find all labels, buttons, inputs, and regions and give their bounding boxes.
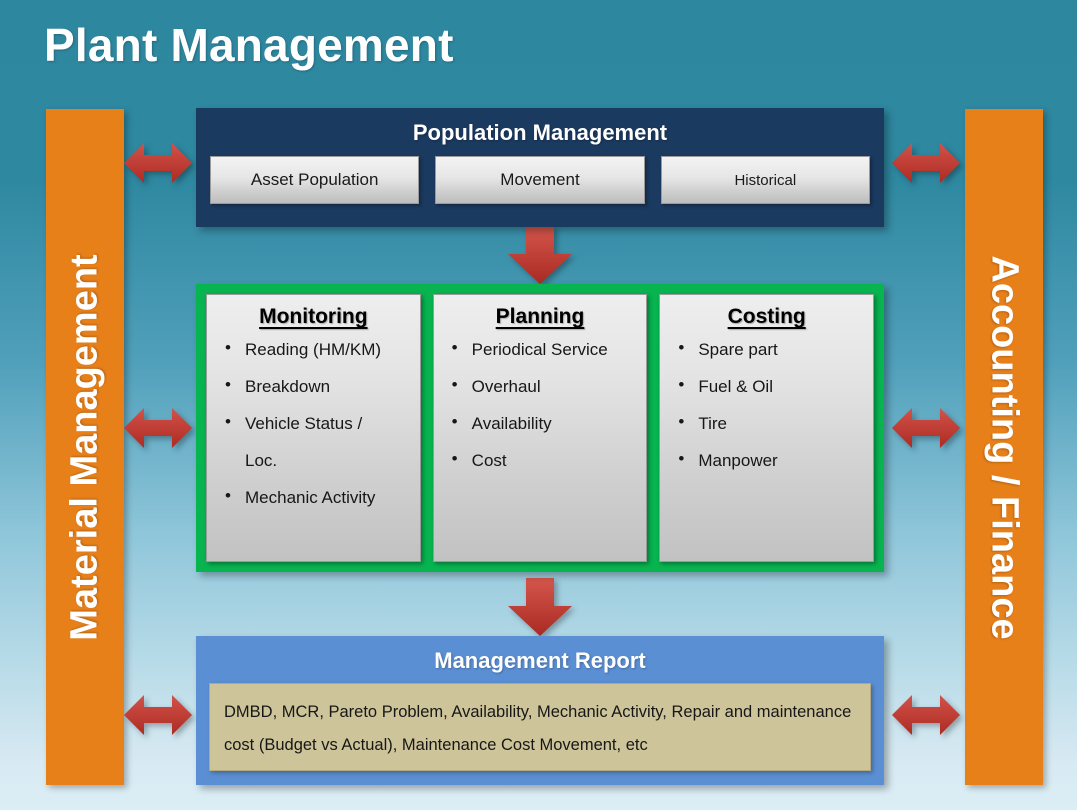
list-item-continuation: Loc. (225, 452, 414, 469)
management-report-body: DMBD, MCR, Pareto Problem, Availability,… (209, 683, 871, 771)
list-item: Breakdown (225, 378, 414, 395)
down-arrow-icon-pillars-to-report (504, 576, 576, 638)
list-item: Periodical Service (452, 341, 641, 358)
list-item: Manpower (678, 452, 867, 469)
double-arrow-icon-left-bottom (122, 687, 194, 743)
card-monitoring-title: Monitoring (213, 305, 414, 329)
down-arrow-icon-population-to-pillars (504, 224, 576, 286)
card-planning: Planning Periodical Service Overhaul Ava… (433, 294, 648, 562)
card-costing-title: Costing (666, 305, 867, 329)
list-item: Overhaul (452, 378, 641, 395)
list-item: Availability (452, 415, 641, 432)
list-item: Tire (678, 415, 867, 432)
double-arrow-icon-left-top (122, 135, 194, 191)
card-planning-list: Periodical Service Overhaul Availability… (440, 341, 641, 469)
management-report-heading: Management Report (196, 636, 884, 674)
list-item: Vehicle Status / (225, 415, 414, 432)
list-item: Cost (452, 452, 641, 469)
list-item: Reading (HM/KM) (225, 341, 414, 358)
button-asset-population[interactable]: Asset Population (210, 156, 419, 204)
card-planning-title: Planning (440, 305, 641, 329)
card-costing-list: Spare part Fuel & Oil Tire Manpower (666, 341, 867, 469)
population-management-heading: Population Management (196, 108, 884, 146)
button-historical[interactable]: Historical (661, 156, 870, 204)
management-report-panel: Management Report DMBD, MCR, Pareto Prob… (196, 636, 884, 785)
card-monitoring: Monitoring Reading (HM/KM) Breakdown Veh… (206, 294, 421, 562)
population-management-button-group: Asset Population Movement Historical (196, 146, 884, 204)
double-arrow-icon-left-middle (122, 400, 194, 456)
double-arrow-icon-right-top (890, 135, 962, 191)
list-item: Mechanic Activity (225, 489, 414, 506)
card-costing: Costing Spare part Fuel & Oil Tire Manpo… (659, 294, 874, 562)
page-title: Plant Management (44, 18, 454, 72)
sidebar-material-management-label: Material Management (64, 254, 107, 640)
population-management-panel: Population Management Asset Population M… (196, 108, 884, 227)
double-arrow-icon-right-middle (890, 400, 962, 456)
double-arrow-icon-right-bottom (890, 687, 962, 743)
sidebar-accounting-finance-label: Accounting / Finance (983, 255, 1026, 639)
pillars-frame: Monitoring Reading (HM/KM) Breakdown Veh… (196, 284, 884, 572)
card-monitoring-list: Reading (HM/KM) Breakdown Vehicle Status… (213, 341, 414, 506)
sidebar-material-management[interactable]: Material Management (46, 109, 124, 785)
list-item: Spare part (678, 341, 867, 358)
list-item: Fuel & Oil (678, 378, 867, 395)
sidebar-accounting-finance[interactable]: Accounting / Finance (965, 109, 1043, 785)
button-movement[interactable]: Movement (435, 156, 644, 204)
